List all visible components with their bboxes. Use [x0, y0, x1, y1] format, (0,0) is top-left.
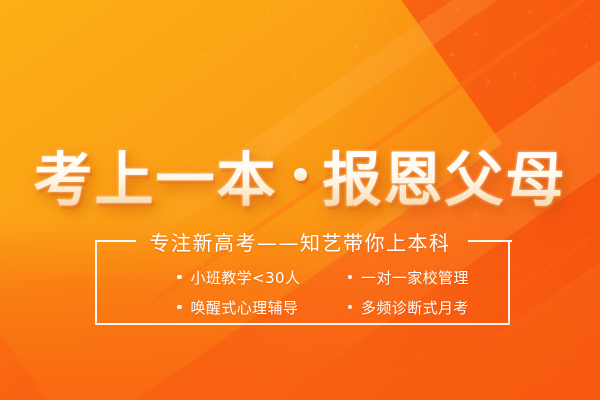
feature-item: 多频诊断式月考: [348, 294, 511, 320]
feature-label: 小班教学<30人: [191, 267, 301, 288]
headline-part-one: 考上一本: [33, 150, 277, 209]
feature-item: 小班教学<30人: [177, 264, 340, 290]
headline-separator-dot-icon: [294, 168, 307, 181]
headline: 考上一本 报恩父母: [0, 140, 600, 218]
headline-part-two: 报恩父母: [323, 150, 567, 209]
feature-item: 唤醒式心理辅导: [177, 294, 340, 320]
bullet-dot-icon: [348, 305, 353, 310]
bullet-dot-icon: [177, 305, 182, 310]
subtitle: 专注新高考——知艺带你上本科: [0, 228, 600, 254]
bullet-dot-icon: [177, 275, 182, 280]
feature-label: 多频诊断式月考: [361, 297, 469, 318]
feature-list: 小班教学<30人 一对一家校管理 唤醒式心理辅导 多频诊断式月考: [95, 264, 510, 320]
feature-label: 一对一家校管理: [361, 267, 469, 288]
feature-label: 唤醒式心理辅导: [191, 297, 299, 318]
promo-banner: 考上一本 报恩父母 专注新高考——知艺带你上本科 小班教学<30人 一对一家校管…: [0, 0, 600, 400]
subtitle-text: 专注新高考——知艺带你上本科: [140, 227, 461, 256]
banner-content: 考上一本 报恩父母 专注新高考——知艺带你上本科 小班教学<30人 一对一家校管…: [0, 0, 600, 400]
bullet-dot-icon: [348, 275, 353, 280]
feature-item: 一对一家校管理: [348, 264, 511, 290]
